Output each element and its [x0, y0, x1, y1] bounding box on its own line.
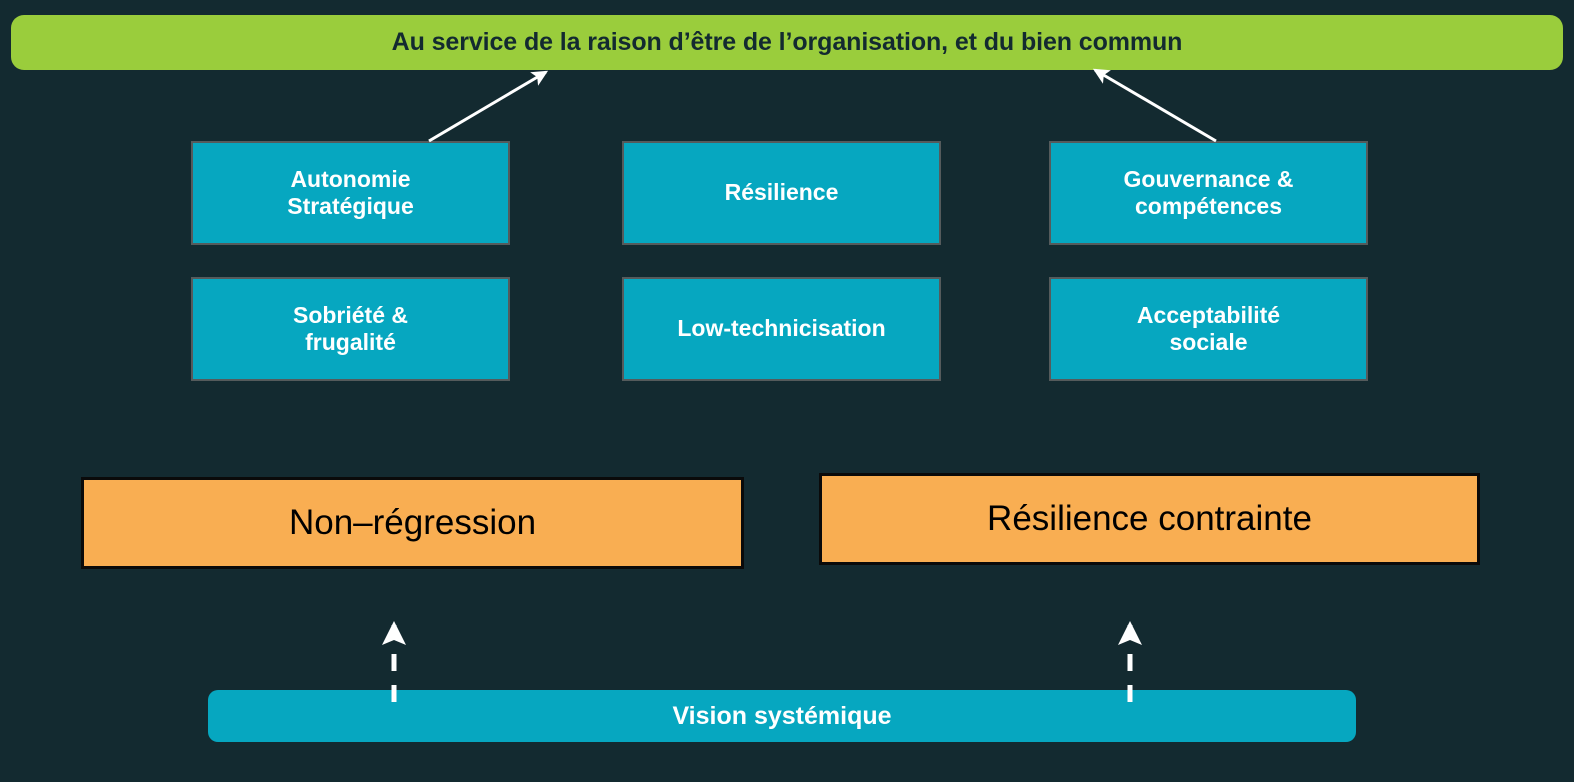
purpose-banner-label: Au service de la raison d’être de l’orga… [392, 28, 1183, 57]
pillar-box-autonomie-strategique[interactable]: AutonomieStratégique [191, 141, 510, 245]
diagram-canvas: Au service de la raison d’être de l’orga… [0, 0, 1574, 782]
foundation-label-vision-systemique: Vision systémique [672, 702, 891, 731]
arrow-autonomie-to-banner [429, 72, 546, 141]
scenario-box-non-regression[interactable]: Non–régression [81, 477, 744, 569]
pillar-label-acceptabilite-sociale: Acceptabilitésociale [1131, 302, 1286, 356]
scenario-label-resilience-contrainte: Résilience contrainte [987, 499, 1312, 539]
connector-layer [0, 0, 1574, 782]
pillar-box-gouvernance-competences[interactable]: Gouvernance &compétences [1049, 141, 1368, 245]
pillar-label-resilience: Résilience [719, 179, 845, 206]
pillar-box-sobriete-frugalite[interactable]: Sobriété &frugalité [191, 277, 510, 381]
scenario-box-resilience-contrainte[interactable]: Résilience contrainte [819, 473, 1480, 565]
pillar-box-acceptabilite-sociale[interactable]: Acceptabilitésociale [1049, 277, 1368, 381]
pillar-label-sobriete-frugalite: Sobriété &frugalité [287, 302, 414, 356]
pillar-box-resilience[interactable]: Résilience [622, 141, 941, 245]
foundation-bar-vision-systemique[interactable]: Vision systémique [208, 690, 1356, 742]
pillar-label-gouvernance-competences: Gouvernance &compétences [1118, 166, 1300, 220]
pillar-box-low-technicisation[interactable]: Low-technicisation [622, 277, 941, 381]
pillar-label-autonomie-strategique: AutonomieStratégique [281, 166, 420, 220]
arrow-gouvernance-to-banner [1095, 70, 1216, 141]
purpose-banner: Au service de la raison d’être de l’orga… [11, 15, 1563, 70]
scenario-label-non-regression: Non–régression [289, 503, 536, 543]
pillar-label-low-technicisation: Low-technicisation [671, 315, 891, 342]
